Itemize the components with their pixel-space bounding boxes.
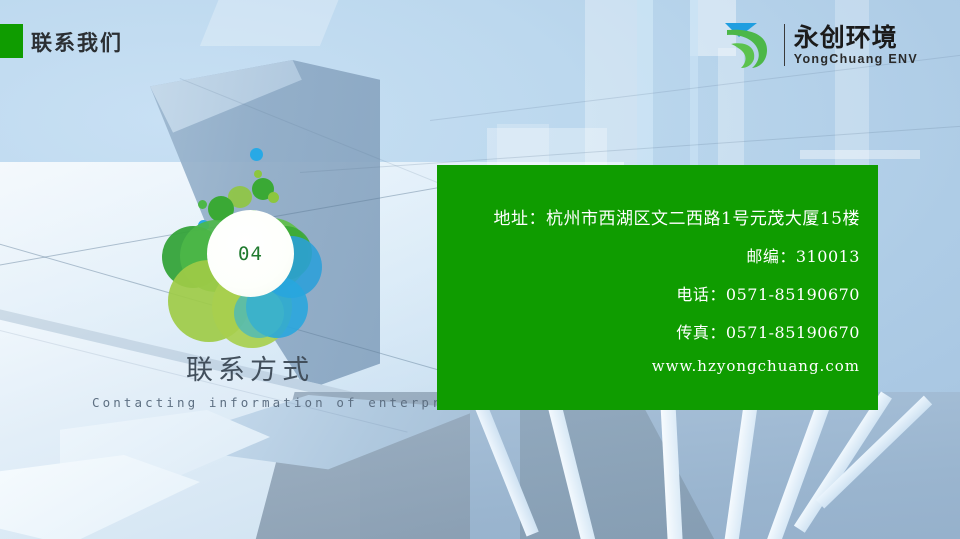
presentation-slide: 联系我们 永创环境 YongChuang ENV — [0, 0, 960, 539]
decor-dot-green-1 — [254, 170, 262, 178]
bg-glass-block-top — [200, 0, 344, 46]
section-title-english: Contacting information of enterprise — [92, 395, 475, 410]
decor-dot-green-6 — [198, 200, 207, 209]
logo-divider — [784, 24, 785, 66]
contact-postcode: 邮编：310013 — [746, 243, 860, 267]
contact-info-panel: 地址：杭州市西湖区文二西路1号元茂大厦15楼 邮编：310013 电话：0571… — [437, 165, 878, 410]
decor-dot-blue-1 — [250, 148, 263, 161]
page-title: 联系我们 — [31, 27, 123, 57]
decor-dot-green-4 — [268, 192, 279, 203]
badge-number: 04 — [238, 243, 263, 265]
contact-fax: 传真：0571-85190670 — [676, 319, 860, 343]
contact-telephone: 电话：0571-85190670 — [676, 281, 860, 305]
contact-info-list: 地址：杭州市西湖区文二西路1号元茂大厦15楼 邮编：310013 电话：0571… — [437, 165, 878, 410]
section-number-badge: 04 — [150, 148, 354, 360]
contact-website[interactable]: www.hzyongchuang.com — [652, 357, 860, 375]
header-green-marker — [0, 24, 23, 58]
badge-core-circle: 04 — [207, 210, 294, 297]
section-title-chinese: 联系方式 — [186, 348, 314, 387]
logo-wordmark: 永创环境 YongChuang ENV — [794, 25, 918, 66]
company-logo: 永创环境 YongChuang ENV — [723, 20, 918, 70]
yongchuang-leaf-logo-icon — [723, 20, 775, 70]
logo-chinese-name: 永创环境 — [794, 25, 918, 50]
bg-glass-panel-7 — [800, 150, 920, 159]
contact-address: 地址：杭州市西湖区文二西路1号元茂大厦15楼 — [494, 204, 860, 229]
logo-english-name: YongChuang ENV — [794, 53, 918, 66]
bg-glass-panel-2 — [637, 0, 653, 180]
